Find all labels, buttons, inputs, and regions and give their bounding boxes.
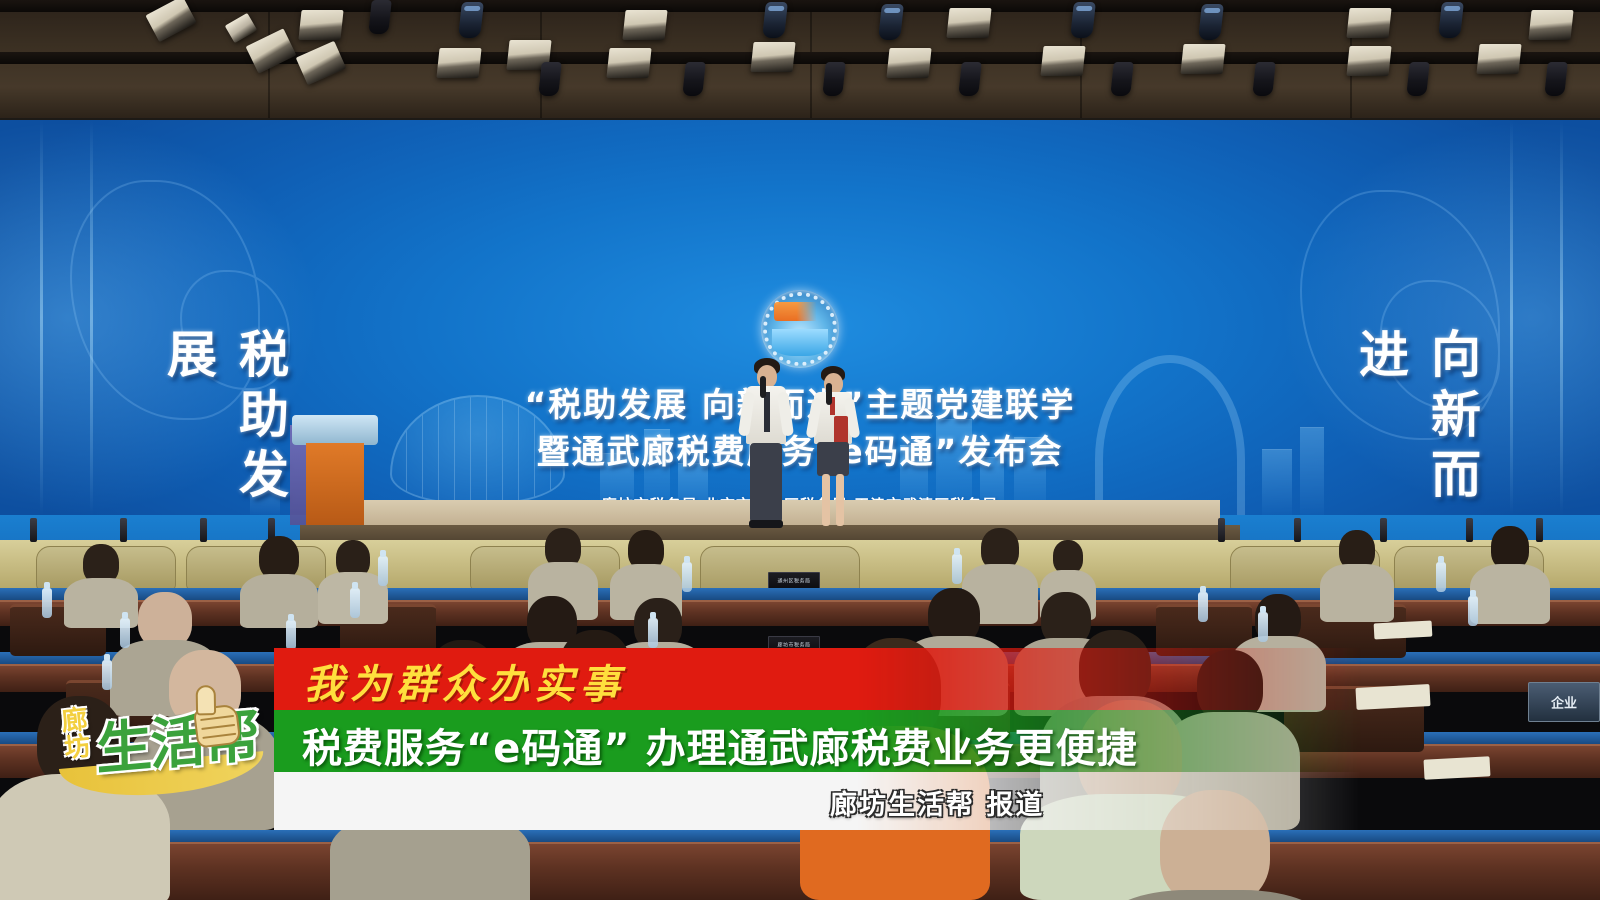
attendee-foreground (800, 638, 990, 900)
led-slogan-left: 税助发展 (152, 328, 296, 515)
attendee (1320, 530, 1394, 622)
stage-light (246, 28, 297, 73)
water-bottle (1468, 596, 1478, 626)
stage-light (538, 62, 562, 96)
ceiling-truss (0, 0, 1600, 128)
side-display-screen: 企业 (1528, 682, 1600, 722)
water-bottle (286, 620, 296, 650)
water-bottle (120, 618, 130, 648)
stage-light (1346, 46, 1391, 76)
stage-light (436, 48, 481, 78)
stage-light (958, 62, 982, 96)
attendee (520, 630, 670, 830)
side-display-text: 企业 (1529, 693, 1599, 712)
logo-prefix: 廊 坊 (51, 706, 100, 764)
desk-microphone (120, 518, 127, 542)
desk-microphone (1294, 518, 1301, 542)
stage-light (606, 48, 651, 78)
stage-light (682, 62, 706, 96)
stage-light (298, 10, 343, 40)
stage-light (225, 13, 258, 43)
handheld-microphone (760, 376, 766, 398)
desk-microphone (1218, 518, 1225, 542)
stage-light (762, 2, 788, 38)
led-headline-line1: “税助发展 向新而进”主题党建联学 (400, 382, 1200, 429)
attendee-foreground (330, 730, 530, 900)
desk-microphone (30, 518, 37, 542)
led-center-content: “税助发展 向新而进”主题党建联学 暨通武廊税费服务“e码通”发布会 廊坊市税务… (400, 290, 1200, 515)
stage-light (1438, 2, 1464, 38)
water-bottle (1258, 612, 1268, 642)
stage-light (878, 4, 904, 40)
desk-microphone (200, 518, 207, 542)
water-bottle (1436, 562, 1446, 592)
attendee (240, 536, 318, 626)
stage-light (368, 0, 392, 34)
led-headline-line2: 暨通武廊税费服务“e码通”发布会 (400, 429, 1200, 476)
stage-light (886, 48, 931, 78)
stage-light (1040, 46, 1085, 76)
water-bottle (42, 588, 52, 618)
led-video-wall: 税助发展 向新而进 “税助发展 向新而进”主题党建联学 暨通武廊税费服务“e码通… (0, 120, 1600, 515)
attendee-foreground (1100, 790, 1330, 900)
stage-light (1544, 62, 1568, 96)
water-bottle (648, 618, 658, 648)
stage-light (1528, 10, 1573, 40)
stage-light (1110, 62, 1134, 96)
paper-document (1355, 684, 1430, 710)
broadcast-frame: 税助发展 向新而进 “税助发展 向新而进”主题党建联学 暨通武廊税费服务“e码通… (0, 0, 1600, 900)
led-slogan-right: 向新而进 (1344, 328, 1488, 515)
channel-logo: 廊 坊 生活帮 (52, 690, 277, 800)
stage-light (822, 62, 846, 96)
stage-light (750, 42, 795, 72)
water-bottle (102, 660, 112, 690)
handheld-microphone (826, 383, 832, 405)
stage-light (1070, 2, 1096, 38)
water-bottle (378, 556, 388, 586)
tax-bureau-emblem-icon (761, 290, 839, 368)
stage-light (1198, 4, 1224, 40)
logo-prefix-char-2: 坊 (63, 731, 92, 764)
stage-light (458, 2, 484, 38)
stage-light (1180, 44, 1225, 74)
water-bottle (350, 588, 360, 618)
stage-light (296, 41, 347, 85)
stage-light (1406, 62, 1430, 96)
nameplate-text: 通州区税务局 (769, 578, 819, 585)
water-bottle (682, 562, 692, 592)
stage-light (1346, 8, 1391, 38)
water-bottle (952, 554, 962, 584)
water-bottle (1198, 592, 1208, 622)
stage-light (1476, 44, 1521, 74)
stage-light (946, 8, 991, 38)
paper-document (1424, 756, 1491, 779)
thumbs-up-icon (184, 683, 249, 752)
paper-document (1374, 620, 1433, 639)
stage-light (1252, 62, 1276, 96)
stage-light (622, 10, 667, 40)
attendee (1470, 526, 1550, 624)
